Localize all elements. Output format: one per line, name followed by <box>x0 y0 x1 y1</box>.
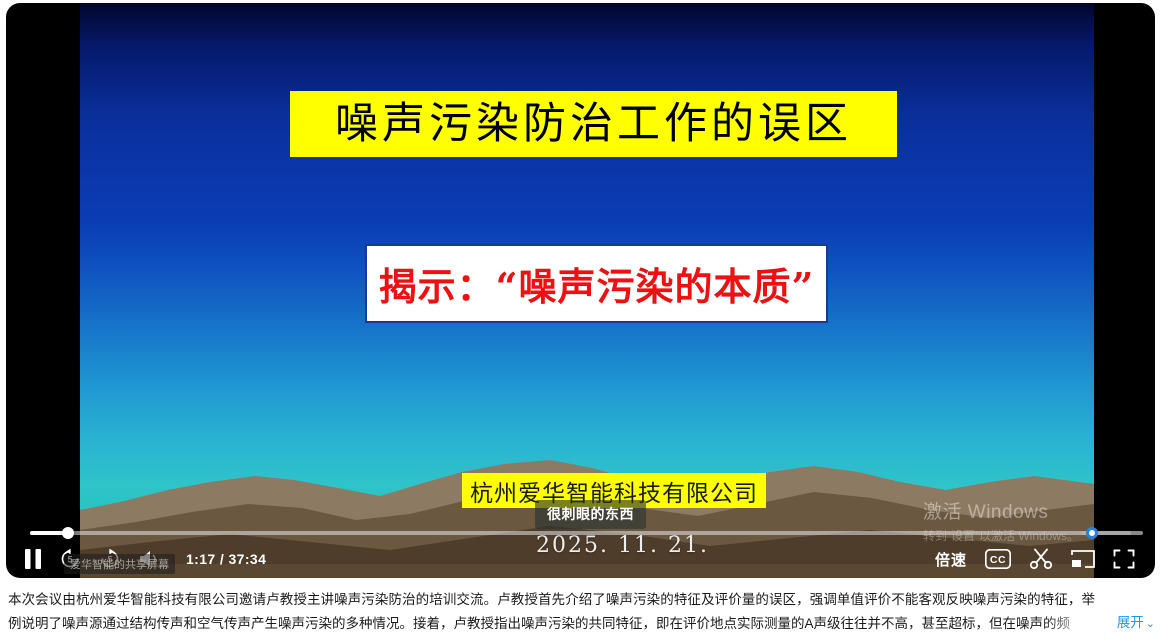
svg-text:5: 5 <box>67 555 72 565</box>
expand-label: 展开 <box>1117 615 1144 630</box>
player-controls[interactable]: 5 5 <box>6 526 1155 578</box>
slide-title: 噪声污染防治工作的误区 <box>290 91 897 157</box>
progress-handle[interactable] <box>62 527 74 539</box>
video-description: 本次会议由杭州爱华智能科技有限公司邀请卢教授主讲噪声污染防治的培训交流。卢教授首… <box>0 588 1161 637</box>
forward-5s-icon[interactable]: 5 <box>98 547 122 571</box>
slide-subtitle: 揭示：“噪声污染的本质” <box>365 244 828 323</box>
danmaku-comment: 很刺眼的东西 <box>535 500 646 529</box>
expand-description-button[interactable]: 展开⌄ <box>1113 611 1155 636</box>
svg-text:CC: CC <box>990 554 1006 566</box>
pause-icon[interactable] <box>24 548 42 570</box>
picture-in-picture-icon[interactable] <box>1071 549 1095 569</box>
rewind-5s-icon[interactable]: 5 <box>58 547 82 571</box>
progress-track[interactable] <box>30 531 1131 535</box>
svg-text:5: 5 <box>107 555 112 565</box>
progress-bar[interactable] <box>6 526 1155 540</box>
slide-subtitle-text: 揭示：“噪声污染的本质” <box>379 256 815 311</box>
chevron-down-icon: ⌄ <box>1146 618 1155 630</box>
control-buttons-row[interactable]: 5 5 <box>6 540 1155 578</box>
captions-cc-icon[interactable]: CC <box>985 549 1011 569</box>
playback-speed-button[interactable]: 倍速 <box>935 549 967 570</box>
clip-scissors-icon[interactable] <box>1029 548 1053 570</box>
video-stage[interactable]: 噪声污染防治工作的误区 揭示：“噪声污染的本质” 杭州爱华智能科技有限公司 很刺… <box>80 3 1094 578</box>
time-display: 1:17 / 37:34 <box>186 551 266 567</box>
volume-slider[interactable] <box>1081 527 1143 539</box>
left-controls[interactable]: 5 5 <box>6 540 266 578</box>
video-player[interactable]: 噪声污染防治工作的误区 揭示：“噪声污染的本质” 杭州爱华智能科技有限公司 很刺… <box>6 3 1155 578</box>
slide-title-text: 噪声污染防治工作的误区 <box>335 103 852 146</box>
volume-handle[interactable] <box>1086 527 1098 539</box>
volume-icon[interactable] <box>138 548 162 570</box>
right-controls[interactable]: 倍速 CC <box>935 540 1155 578</box>
fullscreen-icon[interactable] <box>1113 549 1135 569</box>
video-description-text: 本次会议由杭州爱华智能科技有限公司邀请卢教授主讲噪声污染防治的培训交流。卢教授首… <box>8 588 1153 636</box>
